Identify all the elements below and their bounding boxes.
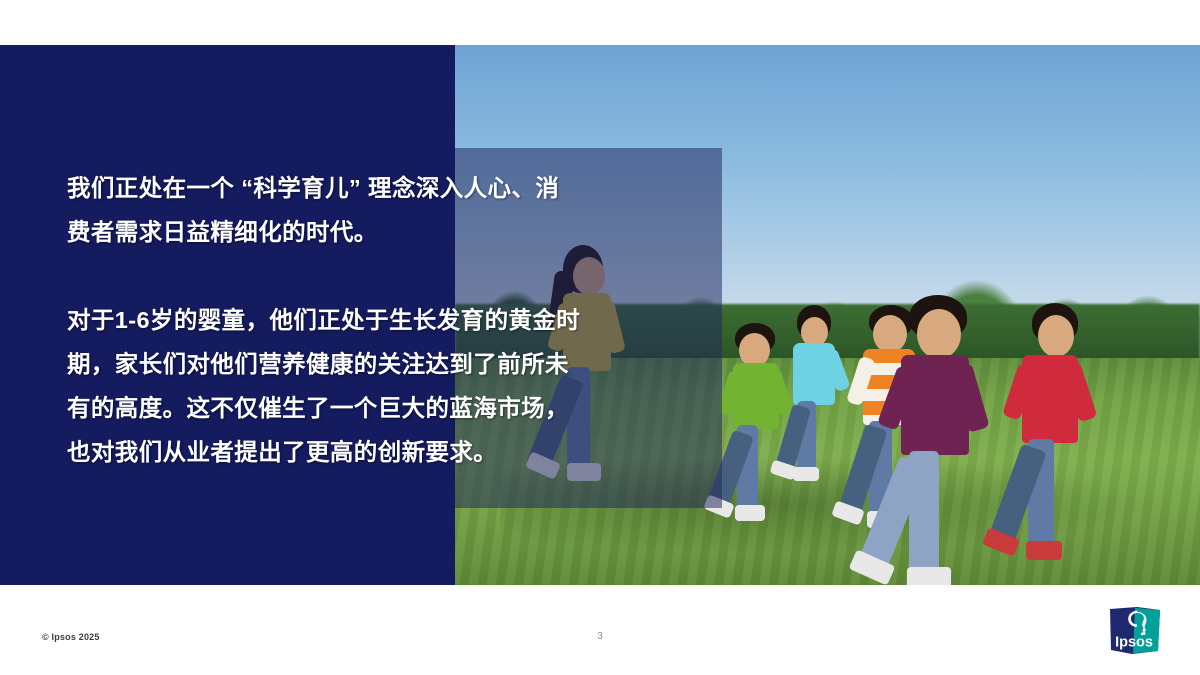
presentation-slide: 我们正处在一个 “科学育儿” 理念深入人心、消 费者需求日益精细化的时代。 对于… (0, 0, 1200, 675)
ipsos-wordmark: Ipsos (1115, 635, 1153, 651)
paragraph-2-line-3: 有的高度。这不仅催生了一个巨大的蓝海市场， (67, 386, 717, 430)
paragraph-1-line-1: 我们正处在一个 “科学育儿” 理念深入人心、消 (67, 166, 717, 210)
paragraph-2-line-1: 对于1-6岁的婴童，他们正处于生长发育的黄金时 (67, 298, 717, 342)
ipsos-logo: Ipsos (1108, 606, 1162, 656)
paragraph-2-line-4: 也对我们从业者提出了更高的创新要求。 (67, 430, 717, 474)
page-number: 3 (0, 631, 1200, 642)
paragraph-1-line-2: 费者需求日益精细化的时代。 (67, 210, 717, 254)
child-girl-lightblue (785, 305, 853, 505)
child-girl-red (1010, 303, 1102, 573)
child-boy-purple (885, 295, 995, 585)
slide-body-text: 我们正处在一个 “科学育儿” 理念深入人心、消 费者需求日益精细化的时代。 对于… (67, 166, 717, 474)
paragraph-2-line-2: 期，家长们对他们营养健康的关注达到了前所未 (67, 342, 717, 386)
